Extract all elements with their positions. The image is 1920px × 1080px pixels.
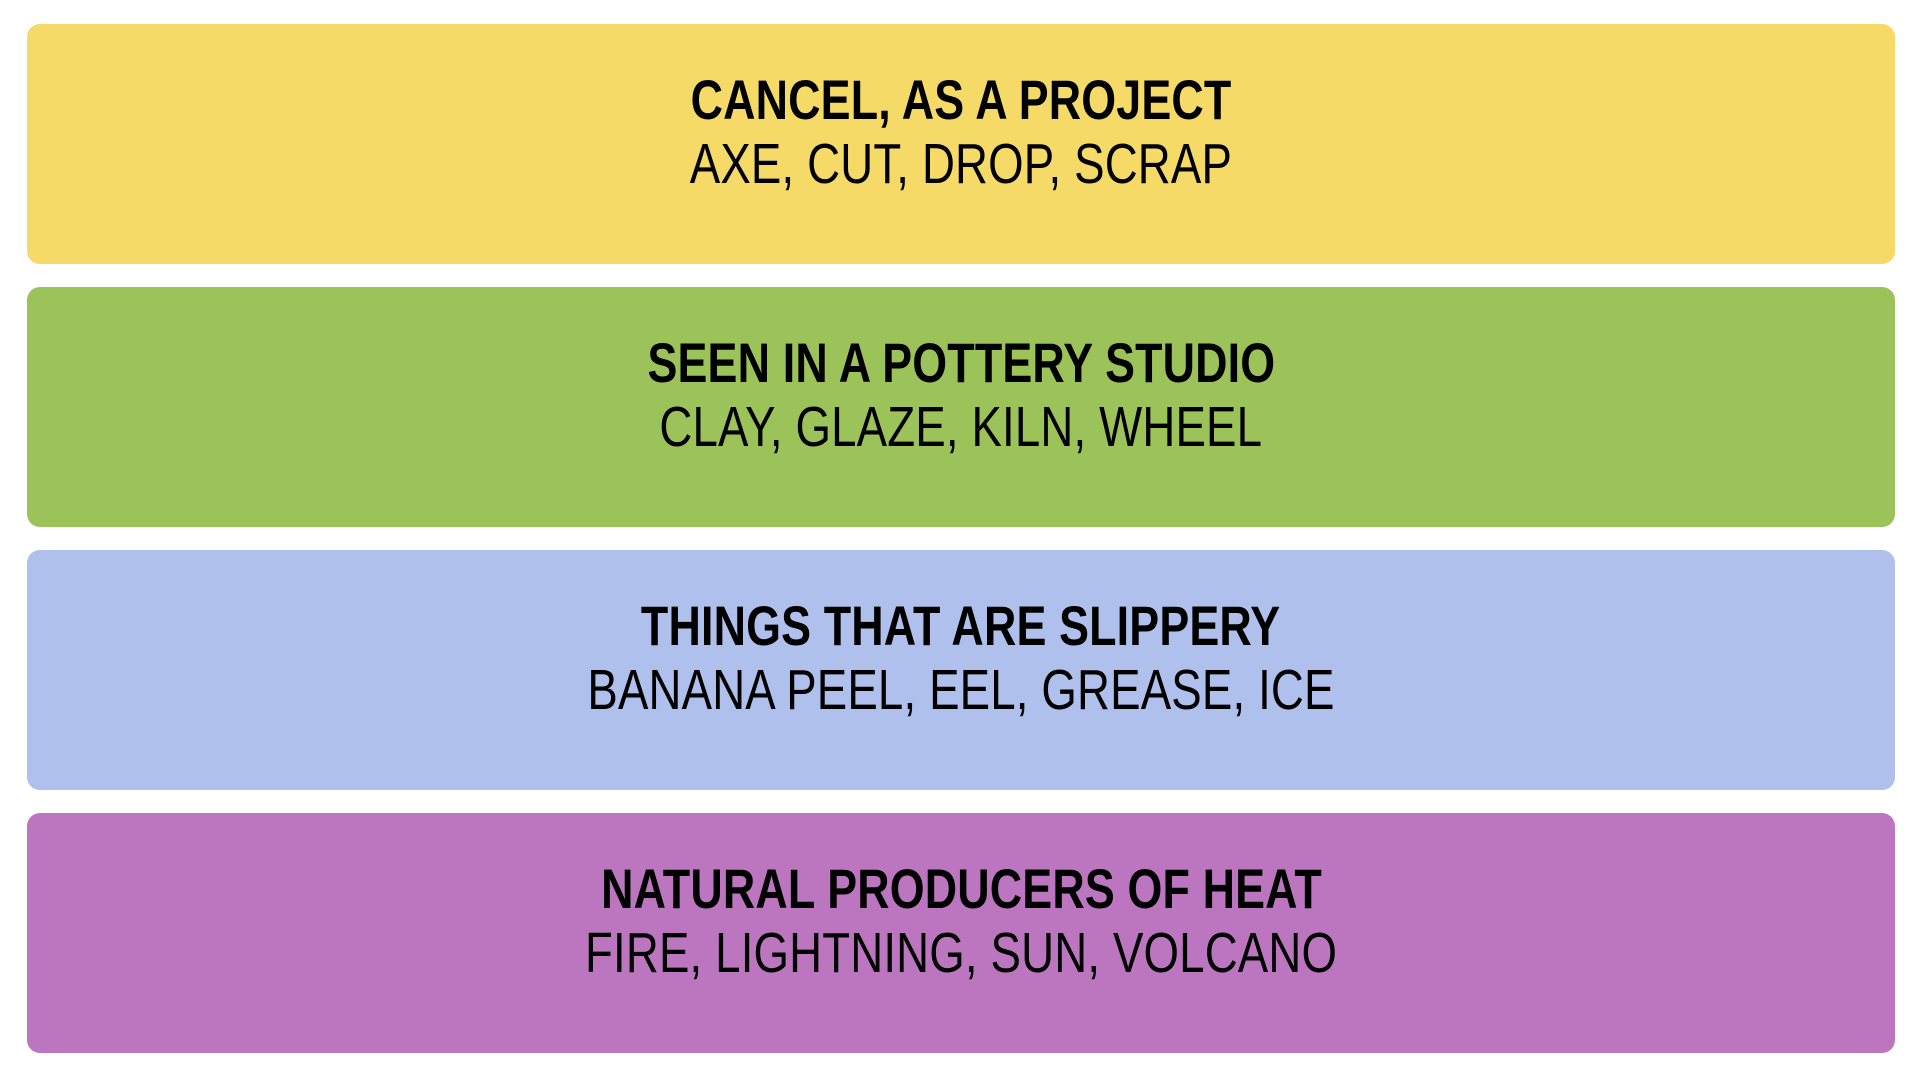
category-band-purple[interactable]: NATURAL PRODUCERS OF HEAT FIRE, LIGHTNIN… [27,813,1895,1053]
category-members: CLAY, GLAZE, KILN, WHEEL [660,398,1263,458]
category-band-green[interactable]: SEEN IN A POTTERY STUDIO CLAY, GLAZE, KI… [27,287,1895,527]
category-title: CANCEL, AS A PROJECT [691,71,1232,128]
category-band-blue[interactable]: THINGS THAT ARE SLIPPERY BANANA PEEL, EE… [27,550,1895,790]
category-members: BANANA PEEL, EEL, GREASE, ICE [587,661,1334,721]
category-title: NATURAL PRODUCERS OF HEAT [601,860,1322,917]
category-members: AXE, CUT, DROP, SCRAP [690,135,1232,195]
connections-solution-board: CANCEL, AS A PROJECT AXE, CUT, DROP, SCR… [0,0,1920,1080]
category-title: THINGS THAT ARE SLIPPERY [641,597,1280,654]
category-title: SEEN IN A POTTERY STUDIO [647,334,1275,391]
category-band-yellow[interactable]: CANCEL, AS A PROJECT AXE, CUT, DROP, SCR… [27,24,1895,264]
category-members: FIRE, LIGHTNING, SUN, VOLCANO [585,924,1337,984]
